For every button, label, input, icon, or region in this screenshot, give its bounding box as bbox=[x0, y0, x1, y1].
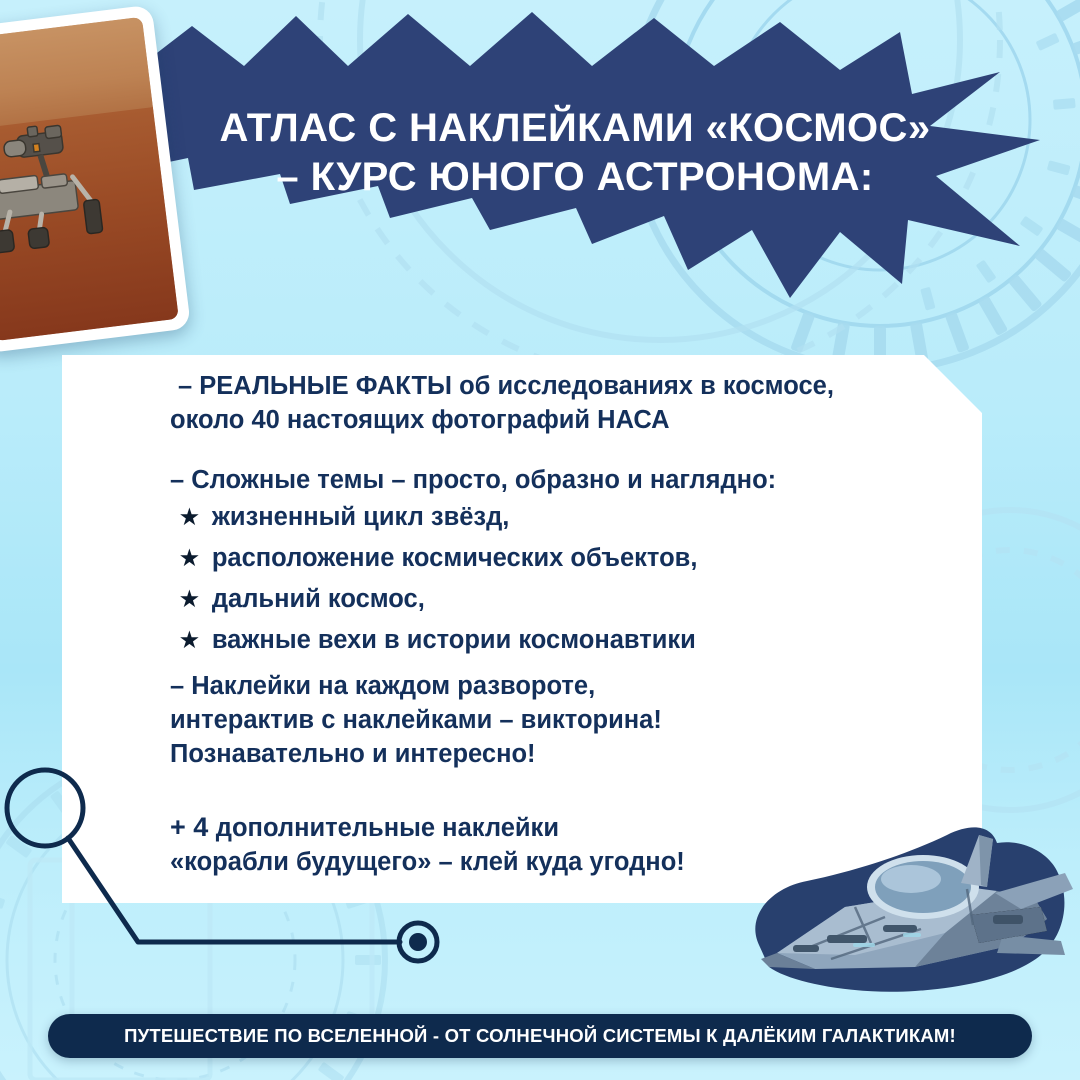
connector-dot-icon bbox=[399, 923, 437, 961]
connector-circle-icon bbox=[7, 770, 83, 846]
connector-line-decoration bbox=[0, 760, 470, 1000]
footer-banner-text: ПУТЕШЕСТВИЕ ПО ВСЕЛЕННОЙ - ОТ СОЛНЕЧНОЙ … bbox=[124, 1025, 956, 1047]
connector-path bbox=[68, 838, 400, 942]
star-icon: ★ bbox=[180, 507, 199, 528]
list-item-label: жизненный цикл звёзд, bbox=[212, 501, 510, 534]
list-item: ★ жизненный цикл звёзд, bbox=[180, 501, 697, 534]
list-item-label: дальний космос, bbox=[212, 583, 425, 616]
list-item-label: важные вехи в истории космонавтики bbox=[212, 624, 696, 657]
star-icon: ★ bbox=[180, 589, 199, 610]
banner-title: АТЛАС С НАКЛЕЙКАМИ «КОСМОС» – КУРС ЮНОГО… bbox=[180, 104, 970, 202]
list-item: ★ важные вехи в истории космонавтики bbox=[180, 624, 697, 657]
paragraph-complex-topics: – Сложные темы – просто, образно и нагля… bbox=[170, 463, 776, 497]
footer-banner: ПУТЕШЕСТВИЕ ПО ВСЕЛЕННОЙ - ОТ СОЛНЕЧНОЙ … bbox=[48, 1014, 1032, 1058]
star-icon: ★ bbox=[180, 548, 199, 569]
paragraph-stickers: – Наклейки на каждом развороте, интеракт… bbox=[170, 669, 662, 771]
poster-root: АТЛАС С НАКЛЕЙКАМИ «КОСМОС» – КУРС ЮНОГО… bbox=[0, 0, 1080, 1080]
paragraph-stickers-line1: – Наклейки на каждом развороте, bbox=[170, 669, 662, 703]
paragraph-real-facts-line1: – РЕАЛЬНЫЕ ФАКТЫ об исследованиях в косм… bbox=[170, 369, 982, 403]
list-item: ★ дальний космос, bbox=[180, 583, 697, 616]
star-icon: ★ bbox=[180, 630, 199, 651]
banner-title-line2: – КУРС ЮНОГО АСТРОНОМА: bbox=[180, 153, 970, 202]
title-banner: АТЛАС С НАКЛЕЙКАМИ «КОСМОС» – КУРС ЮНОГО… bbox=[140, 8, 1080, 308]
spaceship-sticker bbox=[735, 795, 1080, 1010]
list-item: ★ расположение космических объектов, bbox=[180, 542, 697, 575]
list-item-label: расположение космических объектов, bbox=[212, 542, 698, 575]
rover-icon bbox=[0, 80, 146, 286]
paragraph-real-facts: – РЕАЛЬНЫЕ ФАКТЫ об исследованиях в косм… bbox=[170, 369, 982, 437]
topics-list: ★ жизненный цикл звёзд, ★ расположение к… bbox=[180, 501, 697, 666]
paragraph-real-facts-line2: около 40 настоящих фотографий НАСА bbox=[170, 403, 982, 437]
banner-title-line1: АТЛАС С НАКЛЕЙКАМИ «КОСМОС» bbox=[220, 106, 931, 150]
paragraph-stickers-line2: интерактив с наклейками – викторина! bbox=[170, 703, 662, 737]
mars-rover-photo bbox=[0, 17, 179, 341]
